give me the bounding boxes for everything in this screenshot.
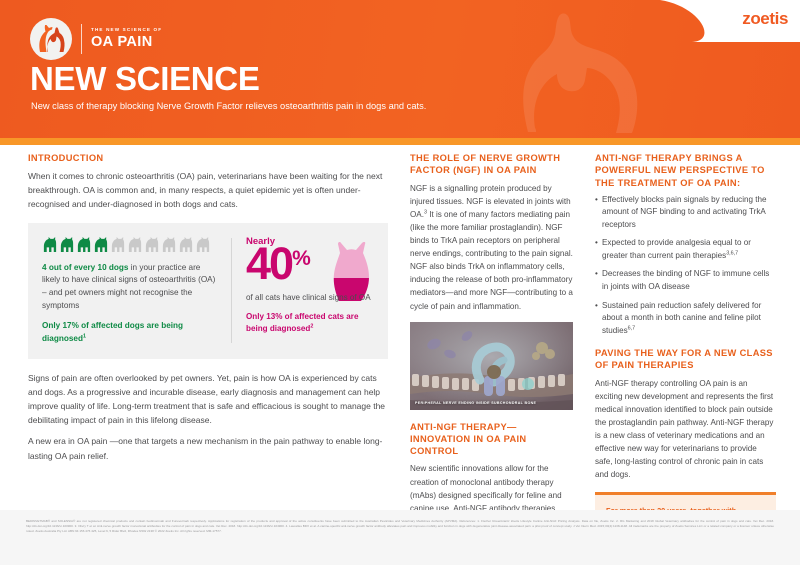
ngf-role-text: NGF is a signalling protein produced by … <box>410 182 573 313</box>
dog-figure-row <box>42 236 217 253</box>
logo-divider <box>81 24 82 54</box>
benefit-text: Effectively blocks pain signals by reduc… <box>602 195 767 229</box>
benefit-ref: 6,7 <box>628 325 636 331</box>
paving-way-heading: PAVING THE WAY FOR A NEW CLASS OF PAIN T… <box>595 347 776 372</box>
anti-ngf-innovation-heading: ANTI-NGF THERAPY—INNOVATION IN OA PAIN C… <box>410 421 573 458</box>
dog-figure-icon <box>59 236 75 253</box>
paving-way-text: Anti-NGF therapy controlling OA pain is … <box>595 377 776 482</box>
cat-stat-number: 40% <box>246 243 374 284</box>
benefit-item: Effectively blocks pain signals by reduc… <box>595 194 776 232</box>
logo-main: OA PAIN <box>91 35 162 50</box>
nerve-ending-molecular-illustration: PERIPHERAL NERVE ENDING INSIDE SUBCHONDR… <box>410 322 573 410</box>
accent-stripe <box>0 138 800 145</box>
dog-stat-bold: 4 out of every 10 dogs <box>42 263 128 272</box>
ngf-role-heading: THE ROLE OF NERVE GROWTH FACTOR (NGF) IN… <box>410 152 573 177</box>
benefit-text: Decreases the binding of NGF to immune c… <box>602 269 769 291</box>
dog-figure-icon <box>93 236 109 253</box>
closing-paragraph-2: A new era in OA pain —one that targets a… <box>28 434 388 462</box>
benefit-item: Decreases the binding of NGF to immune c… <box>595 268 776 293</box>
cat-stat-ref: 2 <box>310 324 313 330</box>
cat-stat-percent: % <box>292 248 310 269</box>
benefit-text: Sustained pain reduction safely delivere… <box>602 301 761 335</box>
stat-divider <box>231 238 232 343</box>
dog-stat-kicker: Only 17% of affected dogs are being diag… <box>42 320 217 345</box>
logo-kicker: THE NEW SCIENCE OF <box>91 28 162 33</box>
page-header: zoetis THE NEW SCIENCE OF OA PAIN NEW SC… <box>0 0 800 138</box>
dog-figure-icon <box>127 236 143 253</box>
poster-page: zoetis THE NEW SCIENCE OF OA PAIN NEW SC… <box>0 0 800 565</box>
column-ngf-role: THE ROLE OF NERVE GROWTH FACTOR (NGF) IN… <box>410 152 573 510</box>
oa-pain-logo: THE NEW SCIENCE OF OA PAIN <box>30 18 162 60</box>
dog-figure-icon <box>110 236 126 253</box>
cat-statistic: Nearly 40% of all cats have clinical sig… <box>246 236 374 345</box>
footer-text: BEDINVETMAB® and SOLENSIA® are not regis… <box>26 519 774 534</box>
statistics-panel: 4 out of every 10 dogs in your practice … <box>28 223 388 359</box>
content-area: INTRODUCTION When it comes to chronic os… <box>0 152 800 510</box>
dog-figure-icon <box>195 236 211 253</box>
dog-figure-icon <box>178 236 194 253</box>
dog-figure-icon <box>161 236 177 253</box>
column-anti-ngf-benefits: ANTI-NGF THERAPY BRINGS A POWERFUL NEW P… <box>595 152 776 510</box>
dog-stat-lead: 4 out of every 10 dogs in your practice … <box>42 262 217 313</box>
page-subtitle: New class of therapy blocking Nerve Grow… <box>31 100 426 114</box>
cat-stat-sub: of all cats have clinical signs of OA <box>246 292 374 304</box>
introduction-heading: INTRODUCTION <box>28 152 388 164</box>
zoetis-logo: zoetis <box>660 0 800 42</box>
column-introduction: INTRODUCTION When it comes to chronic os… <box>28 152 388 510</box>
benefit-item: Sustained pain reduction safely delivere… <box>595 300 776 338</box>
figure-caption: PERIPHERAL NERVE ENDING INSIDE SUBCHONDR… <box>415 401 536 405</box>
benefits-list: Effectively blocks pain signals by reduc… <box>595 194 776 337</box>
page-title: NEW SCIENCE <box>30 62 260 95</box>
benefit-item: Expected to provide analgesia equal to o… <box>595 237 776 262</box>
closing-paragraphs: Signs of pain are often overlooked by pe… <box>28 371 388 463</box>
closing-paragraph-1: Signs of pain are often overlooked by pe… <box>28 371 388 427</box>
dog-figure-icon <box>42 236 58 253</box>
dog-figure-icon <box>76 236 92 253</box>
introduction-text: When it comes to chronic osteoarthritis … <box>28 169 388 211</box>
cat-stat-kicker: Only 13% of affected cats are being diag… <box>246 311 374 335</box>
benefits-heading: ANTI-NGF THERAPY BRINGS A POWERFUL NEW P… <box>595 152 776 189</box>
footer-legal: BEDINVETMAB® and SOLENSIA® are not regis… <box>0 510 800 565</box>
benefit-ref: 3,6,7 <box>726 250 738 256</box>
cat-stat-body: Nearly 40% of all cats have clinical sig… <box>246 236 374 336</box>
dog-watermark-icon <box>470 6 680 138</box>
zoetis-wordmark: zoetis <box>742 9 788 29</box>
dog-figure-icon <box>144 236 160 253</box>
cat-dog-silhouette-icon <box>30 18 72 60</box>
dog-stat-ref: 1 <box>83 333 86 339</box>
dog-statistic: 4 out of every 10 dogs in your practice … <box>42 236 217 345</box>
logo-text: THE NEW SCIENCE OF OA PAIN <box>91 28 162 50</box>
